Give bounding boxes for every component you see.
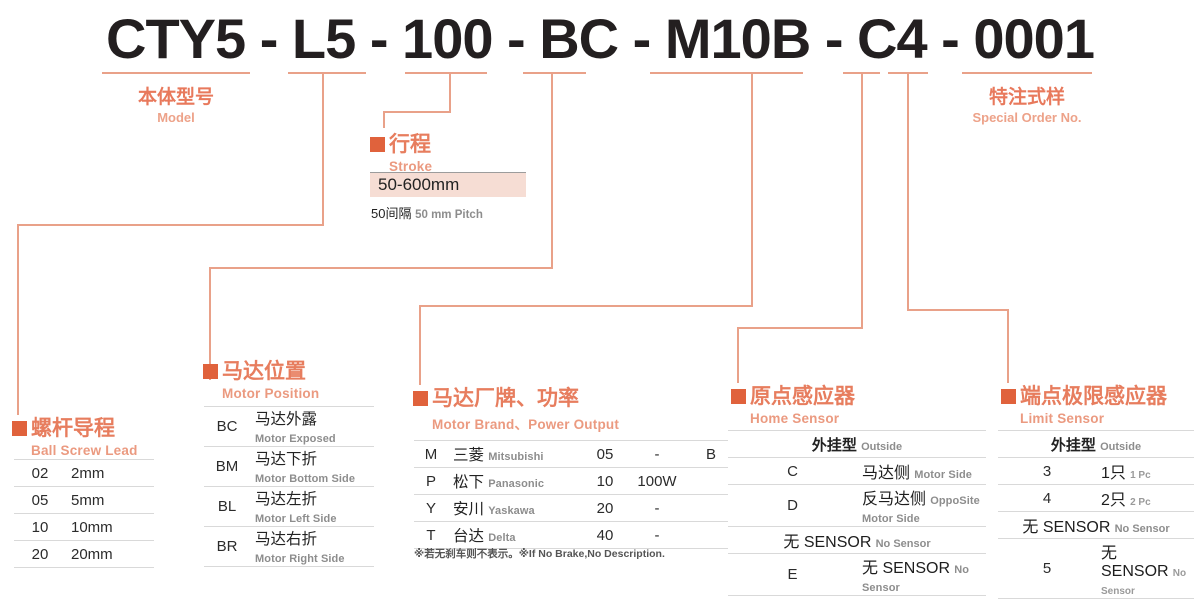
motor-brand-footnote: ※若无刹车则不表示。※If No Brake,No Description.: [414, 546, 665, 561]
section-limit-sensor: 端点极限感应器 Limit Sensor: [1001, 380, 1167, 426]
cell-brand-en: Mitsubishi: [488, 451, 543, 463]
cell-brand-name: 台达 Delta: [448, 522, 586, 549]
section-ball-screw-lead-cn: 螺杆导程: [31, 412, 115, 442]
bullet-square-icon: [12, 421, 27, 436]
table-row-group-header: 外挂型 Outside: [998, 431, 1194, 458]
table-row: C 马达侧 Motor Side: [728, 458, 986, 485]
cell-desc-cn: 马达左折: [255, 491, 317, 508]
cell-desc: 马达左折 Motor Left Side: [250, 487, 374, 527]
cell-brand-cn: 三菱: [453, 447, 484, 464]
cell-brake-code: [690, 522, 732, 549]
cell-code: D: [728, 485, 857, 527]
table-row: 02 2mm: [14, 460, 154, 487]
table-motor-brand-power: M 三菱 Mitsubishi 05 - B P 松下 Panasonic 10…: [414, 440, 732, 549]
cell-brand-name: 松下 Panasonic: [448, 468, 586, 495]
table-row: 05 5mm: [14, 487, 154, 514]
label-model: 本体型号 Model: [96, 82, 256, 125]
group-header-en: Outside: [861, 441, 902, 453]
table-row: BC 马达外露 Motor Exposed: [204, 407, 374, 447]
table-row-group-header: 外挂型 Outside: [728, 431, 986, 458]
label-model-cn: 本体型号: [96, 82, 256, 109]
cell-brand-cn: 松下: [453, 474, 484, 491]
product-code: CTY5 - L5 - 100 - BC - M10B - C4 - 0001: [0, 6, 1200, 68]
cell-code: BL: [204, 487, 250, 527]
cell-desc-cn: 马达右折: [255, 531, 317, 548]
cell-desc-cn: 2只: [1101, 492, 1126, 509]
no-sensor-header-en: No Sensor: [1115, 523, 1170, 535]
bullet-square-icon: [370, 137, 385, 152]
cell-brake-code: [690, 495, 732, 522]
table-row: T 台达 Delta 40 -: [414, 522, 732, 549]
cell-desc-cn: 反马达侧: [862, 491, 926, 508]
cell-brand-en: Yaskawa: [488, 505, 535, 517]
cell-brand-code: T: [414, 522, 448, 549]
cell-brand-code: P: [414, 468, 448, 495]
no-sensor-header-cn: 无 SENSOR: [783, 534, 871, 551]
label-special-order-en: Special Order No.: [947, 110, 1107, 125]
cell-brand-name: 三菱 Mitsubishi: [448, 441, 586, 468]
table-row: BM 马达下折 Motor Bottom Side: [204, 447, 374, 487]
cell-code: 4: [998, 485, 1096, 512]
cell-desc: 马达侧 Motor Side: [857, 458, 986, 485]
cell-desc-en: Motor Left Side: [255, 513, 337, 525]
section-motor-position-en: Motor Position: [222, 386, 319, 401]
cell-desc-en: Motor Side: [914, 469, 972, 481]
cell-desc: 马达外露 Motor Exposed: [250, 407, 374, 447]
bullet-square-icon: [1001, 389, 1016, 404]
stroke-pitch-cn: 50间隔: [371, 206, 411, 221]
cell-code: BC: [204, 407, 250, 447]
cell-brand-code: M: [414, 441, 448, 468]
table-row-group-header: 无 SENSOR No Sensor: [998, 512, 1194, 539]
cell-value: 5mm: [66, 487, 154, 514]
no-sensor-header-cn: 无 SENSOR: [1022, 519, 1110, 536]
cell-power-code: 40: [586, 522, 624, 549]
table-limit-sensor: 外挂型 Outside 3 1只 1 Pc 4 2只 2 Pc: [998, 430, 1194, 599]
stroke-pitch-note: 50间隔 50 mm Pitch: [371, 203, 483, 222]
stroke-range-box: 50-600mm: [370, 172, 526, 197]
cell-value: 10mm: [66, 514, 154, 541]
table-home-sensor: 外挂型 Outside C 马达侧 Motor Side D 反马达侧 Oppo…: [728, 430, 986, 596]
cell-desc: 反马达侧 OppoSite Motor Side: [857, 485, 986, 527]
cell-power-code: 20: [586, 495, 624, 522]
cell-power-code: 10: [586, 468, 624, 495]
cell-desc: 无 SENSOR No Sensor: [1096, 539, 1194, 599]
bullet-square-icon: [731, 389, 746, 404]
cell-value: 20mm: [66, 541, 154, 568]
table-row: 20 20mm: [14, 541, 154, 568]
cell-desc-cn: 无 SENSOR: [862, 560, 950, 577]
cell-brake-code: [690, 468, 732, 495]
table-row: P 松下 Panasonic 10 100W: [414, 468, 732, 495]
cell-desc-en: Motor Exposed: [255, 433, 336, 445]
table-row-group-header: 无 SENSOR No Sensor: [728, 527, 986, 554]
section-home-sensor-en: Home Sensor: [750, 411, 855, 426]
cell-brand-code: Y: [414, 495, 448, 522]
section-ball-screw-lead-en: Ball Screw Lead: [31, 443, 138, 458]
section-motor-brand-power: 马达厂牌、功率 Motor Brand、Power Output: [413, 382, 619, 433]
section-stroke-cn: 行程: [389, 128, 431, 158]
cell-brand-en: Delta: [488, 532, 515, 544]
cell-code: 02: [14, 460, 66, 487]
cell-desc-cn: 1只: [1101, 465, 1126, 482]
section-stroke: 行程 Stroke: [370, 128, 432, 174]
cell-desc-cn: 马达侧: [862, 465, 910, 482]
cell-code: 20: [14, 541, 66, 568]
cell-desc-en: Motor Right Side: [255, 553, 345, 565]
cell-brand-cn: 台达: [453, 528, 484, 545]
section-motor-brand-power-en: Motor Brand、Power Output: [432, 413, 619, 433]
cell-desc-cn: 马达下折: [255, 451, 317, 468]
cell-desc: 马达右折 Motor Right Side: [250, 527, 374, 567]
cell-code: 10: [14, 514, 66, 541]
cell-power-code: 05: [586, 441, 624, 468]
group-header-cn: 外挂型: [812, 437, 857, 454]
group-header-cn: 外挂型: [1051, 437, 1096, 454]
cell-desc: 1只 1 Pc: [1096, 458, 1194, 485]
table-row: BR 马达右折 Motor Right Side: [204, 527, 374, 567]
section-ball-screw-lead: 螺杆导程 Ball Screw Lead: [12, 412, 138, 458]
no-sensor-header-en: No Sensor: [876, 538, 931, 550]
table-ball-screw-lead: 02 2mm 05 5mm 10 10mm 20 20mm: [14, 459, 154, 568]
table-row: BL 马达左折 Motor Left Side: [204, 487, 374, 527]
cell-desc: 2只 2 Pc: [1096, 485, 1194, 512]
cell-value: 2mm: [66, 460, 154, 487]
section-limit-sensor-cn: 端点极限感应器: [1020, 380, 1167, 410]
cell-code: 3: [998, 458, 1096, 485]
cell-no-sensor-header: 无 SENSOR No Sensor: [728, 527, 986, 554]
cell-power-value: 100W: [624, 468, 690, 495]
label-model-en: Model: [96, 110, 256, 125]
cell-code: 5: [998, 539, 1096, 599]
cell-code: BR: [204, 527, 250, 567]
cell-power-value: -: [624, 522, 690, 549]
label-special-order-cn: 特注式样: [947, 82, 1107, 109]
cell-desc-en: 2 Pc: [1130, 497, 1151, 508]
cell-power-value: -: [624, 441, 690, 468]
section-home-sensor-cn: 原点感应器: [750, 380, 855, 410]
bullet-square-icon: [413, 391, 428, 406]
cell-code: C: [728, 458, 857, 485]
table-row: 3 1只 1 Pc: [998, 458, 1194, 485]
table-motor-position: BC 马达外露 Motor Exposed BM 马达下折 Motor Bott…: [204, 406, 374, 567]
group-header-en: Outside: [1100, 441, 1141, 453]
cell-desc-en: Motor Bottom Side: [255, 473, 355, 485]
label-special-order: 特注式样 Special Order No.: [947, 82, 1107, 125]
section-home-sensor: 原点感应器 Home Sensor: [731, 380, 855, 426]
cell-brand-cn: 安川: [453, 501, 484, 518]
cell-group-header: 外挂型 Outside: [998, 431, 1194, 458]
cell-group-header: 外挂型 Outside: [728, 431, 986, 458]
table-row: 4 2只 2 Pc: [998, 485, 1194, 512]
stroke-range-value: 50-600mm: [378, 175, 459, 195]
cell-no-sensor-header: 无 SENSOR No Sensor: [998, 512, 1194, 539]
part-number-breakdown-diagram: CTY5 - L5 - 100 - BC - M10B - C4 - 0001: [0, 0, 1200, 575]
cell-brand-en: Panasonic: [488, 478, 544, 490]
table-row: 10 10mm: [14, 514, 154, 541]
stroke-pitch-en: 50 mm Pitch: [415, 209, 483, 221]
table-row: M 三菱 Mitsubishi 05 - B: [414, 441, 732, 468]
cell-code: 05: [14, 487, 66, 514]
section-motor-position-cn: 马达位置: [222, 355, 306, 385]
cell-desc-en: 1 Pc: [1130, 470, 1151, 481]
table-row: 5 无 SENSOR No Sensor: [998, 539, 1194, 599]
cell-desc: 马达下折 Motor Bottom Side: [250, 447, 374, 487]
section-motor-position: 马达位置 Motor Position: [203, 355, 319, 401]
cell-desc-cn: 马达外露: [255, 411, 317, 428]
table-row: Y 安川 Yaskawa 20 -: [414, 495, 732, 522]
cell-brake-code: B: [690, 441, 732, 468]
cell-code: BM: [204, 447, 250, 487]
section-motor-brand-power-cn: 马达厂牌、功率: [432, 382, 579, 412]
cell-brand-name: 安川 Yaskawa: [448, 495, 586, 522]
section-limit-sensor-en: Limit Sensor: [1020, 411, 1167, 426]
cell-power-value: -: [624, 495, 690, 522]
table-row: D 反马达侧 OppoSite Motor Side: [728, 485, 986, 527]
bullet-square-icon: [203, 364, 218, 379]
